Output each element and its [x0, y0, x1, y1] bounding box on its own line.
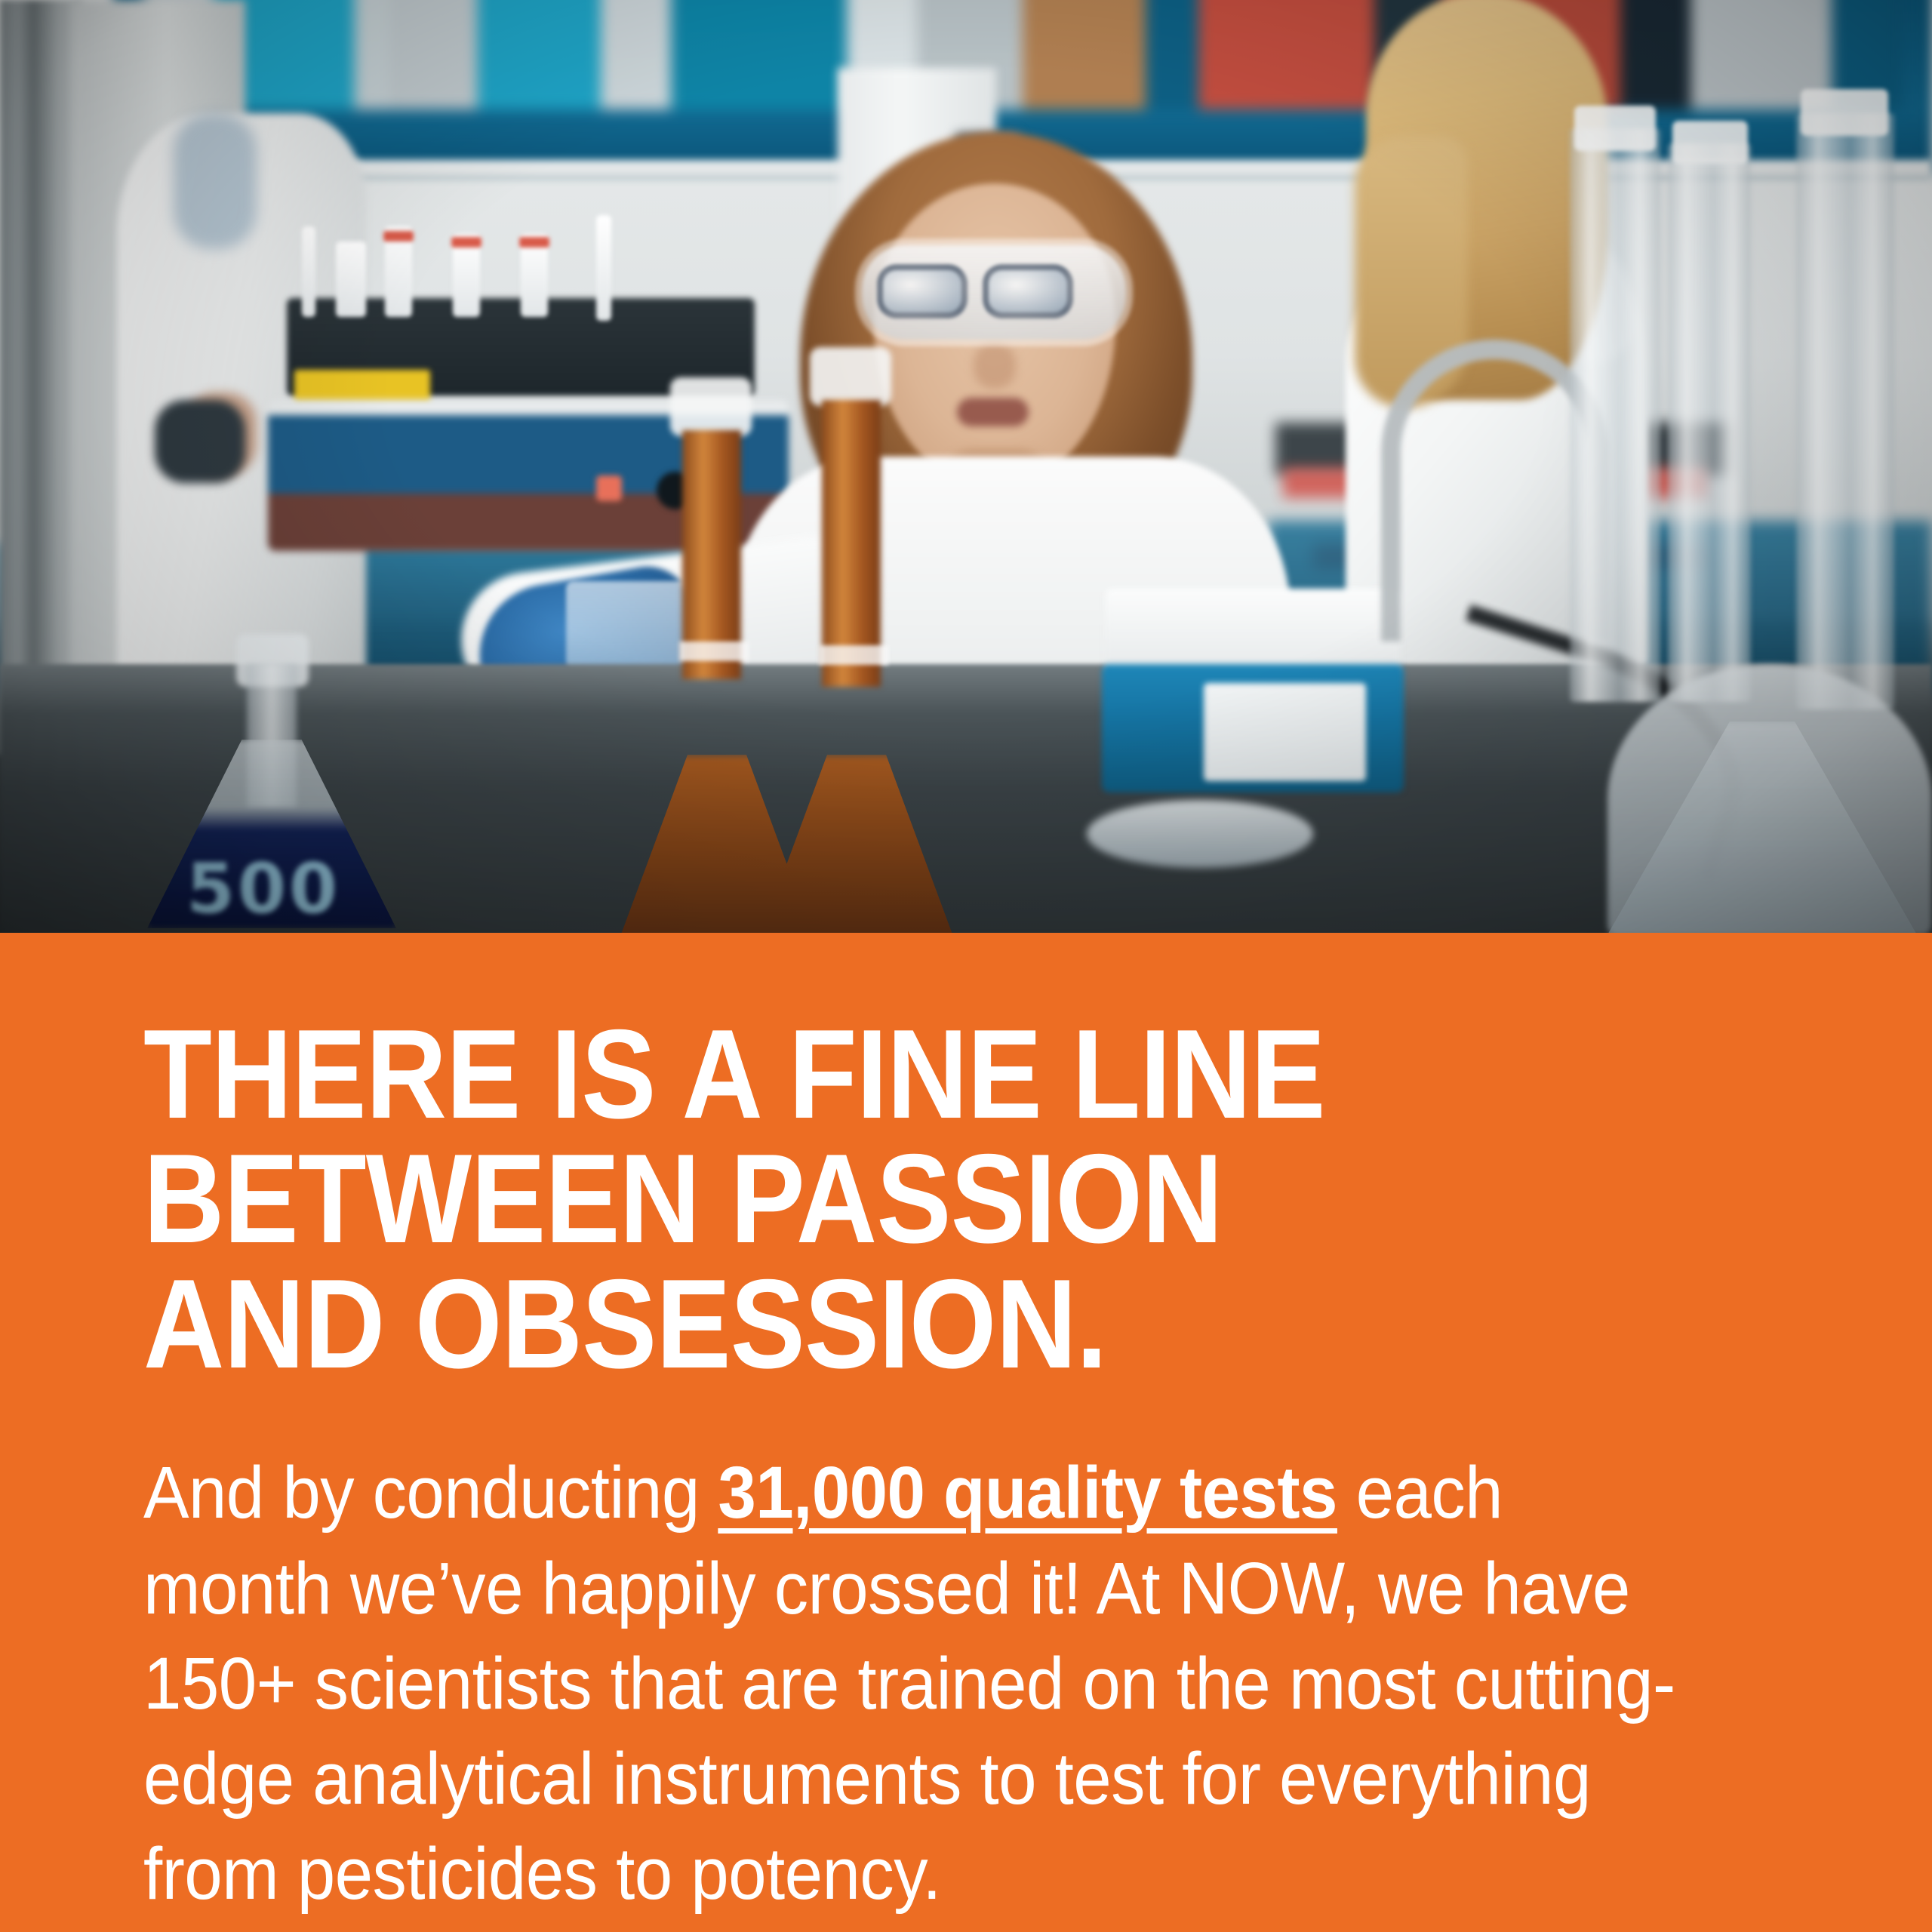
lab-photo: 500: [0, 0, 1932, 933]
marketing-poster: 500 THERE IS A FINE LINE BETWEEN PASSION…: [0, 0, 1932, 1932]
body-copy: And by conducting 31,000 quality tests e…: [143, 1445, 1681, 1921]
photo-vignette: [0, 0, 1932, 933]
body-lead: And by conducting: [143, 1451, 718, 1534]
orange-message-panel: THERE IS A FINE LINE BETWEEN PASSION AND…: [0, 933, 1932, 1932]
page-title: THERE IS A FINE LINE BETWEEN PASSION AND…: [143, 1012, 1599, 1386]
stat-emphasis: 31,000 quality tests: [718, 1451, 1337, 1534]
